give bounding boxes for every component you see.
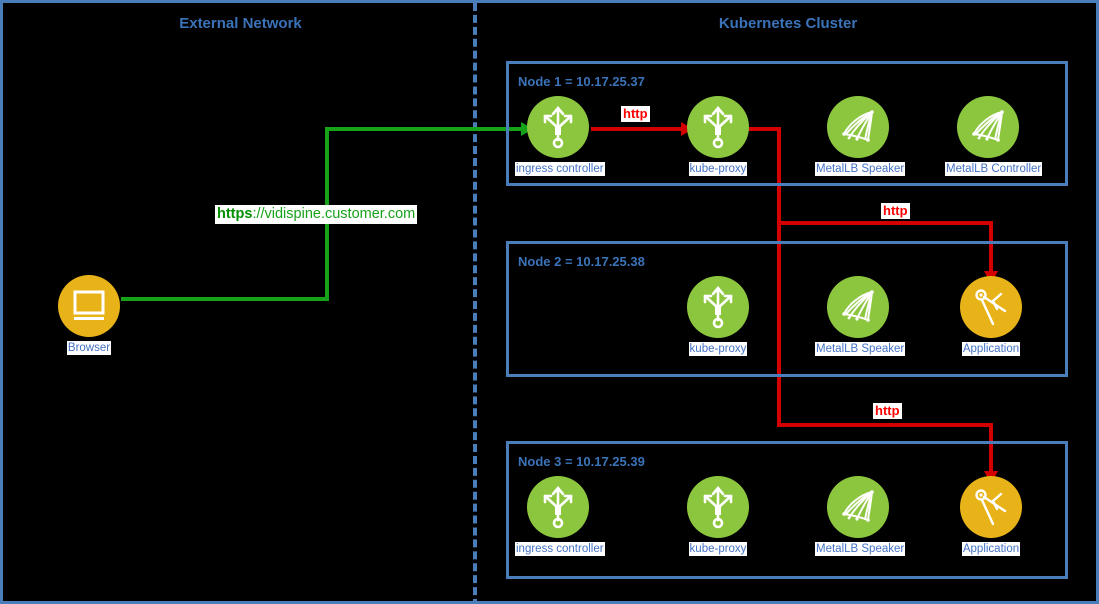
http-branch-node2-horizontal [777,221,993,225]
node2-label-application: Application [962,342,1020,356]
kube-proxy-circle [687,276,749,338]
metallb-speaker-circle [827,476,889,538]
node3-label-metallb-speaker: MetalLB Speaker [815,542,905,556]
node1-label-metallb-speaker: MetalLB Speaker [815,162,905,176]
ingress-controller-circle [527,476,589,538]
network-diagram: External Network Kubernetes Cluster http… [0,0,1099,604]
node2-label-metallb-speaker: MetalLB Speaker [815,342,905,356]
network-boundary-divider [473,3,477,604]
node1-label-metallb-controller: MetalLB Controller [945,162,1042,176]
metallb-controller-circle [957,96,1019,158]
node3-component-metallb-speaker[interactable]: MetalLB Speaker [815,476,901,557]
application-circle [960,476,1022,538]
node3-label-kube-proxy: kube-proxy [689,542,748,556]
node2-component-application[interactable]: Application [948,276,1034,357]
node3-component-application[interactable]: Application [948,476,1034,557]
node1-component-ingress-controller[interactable]: ingress controller [515,96,601,177]
node1-label-kube-proxy: kube-proxy [689,162,748,176]
node2-component-kube-proxy[interactable]: kube-proxy [675,276,761,357]
https-url-label: https://vidispine.customer.com [215,205,417,224]
monitor-icon [58,275,120,337]
http-label-node3: http [873,403,902,419]
browser-circle [58,275,120,337]
metallb-mesh-icon [827,276,889,338]
https-segment-browser-right [121,297,329,301]
proxy-trident-icon [687,476,749,538]
kubernetes-cluster-title: Kubernetes Cluster [648,15,928,32]
https-segment-to-ingress [325,127,522,131]
node1-component-metallb-speaker[interactable]: MetalLB Speaker [815,96,901,177]
metallb-speaker-circle [827,276,889,338]
application-circle [960,276,1022,338]
proxy-trident-icon [687,96,749,158]
node-2-title: Node 2 = 10.17.25.38 [516,254,647,269]
metallb-speaker-circle [827,96,889,158]
kube-proxy-circle [687,96,749,158]
node1-label-ingress-controller: ingress controller [515,162,605,176]
node3-component-kube-proxy[interactable]: kube-proxy [675,476,761,557]
compass-icon [960,476,1022,538]
proxy-trident-icon [527,476,589,538]
kube-proxy-circle [687,476,749,538]
node3-label-ingress-controller: ingress controller [515,542,605,556]
https-host-text: ://vidispine.customer.com [252,206,415,222]
node1-component-kube-proxy[interactable]: kube-proxy [675,96,761,177]
compass-icon [960,276,1022,338]
metallb-mesh-icon [827,476,889,538]
http-branch-node3-horizontal [777,423,993,427]
http-label-node2: http [881,203,910,219]
proxy-trident-icon [527,96,589,158]
ingress-controller-circle [527,96,589,158]
node-3-title: Node 3 = 10.17.25.39 [516,454,647,469]
browser-label: Browser [67,341,111,355]
node-1-title: Node 1 = 10.17.25.37 [516,74,647,89]
node2-component-metallb-speaker[interactable]: MetalLB Speaker [815,276,901,357]
metallb-mesh-icon [957,96,1019,158]
browser-node[interactable]: Browser [46,275,132,356]
node3-component-ingress-controller[interactable]: ingress controller [515,476,601,557]
proxy-trident-icon [687,276,749,338]
external-network-title: External Network [123,15,358,32]
node2-label-kube-proxy: kube-proxy [689,342,748,356]
node1-component-metallb-controller[interactable]: MetalLB Controller [945,96,1031,177]
https-scheme-text: https [217,206,252,222]
node3-label-application: Application [962,542,1020,556]
metallb-mesh-icon [827,96,889,158]
